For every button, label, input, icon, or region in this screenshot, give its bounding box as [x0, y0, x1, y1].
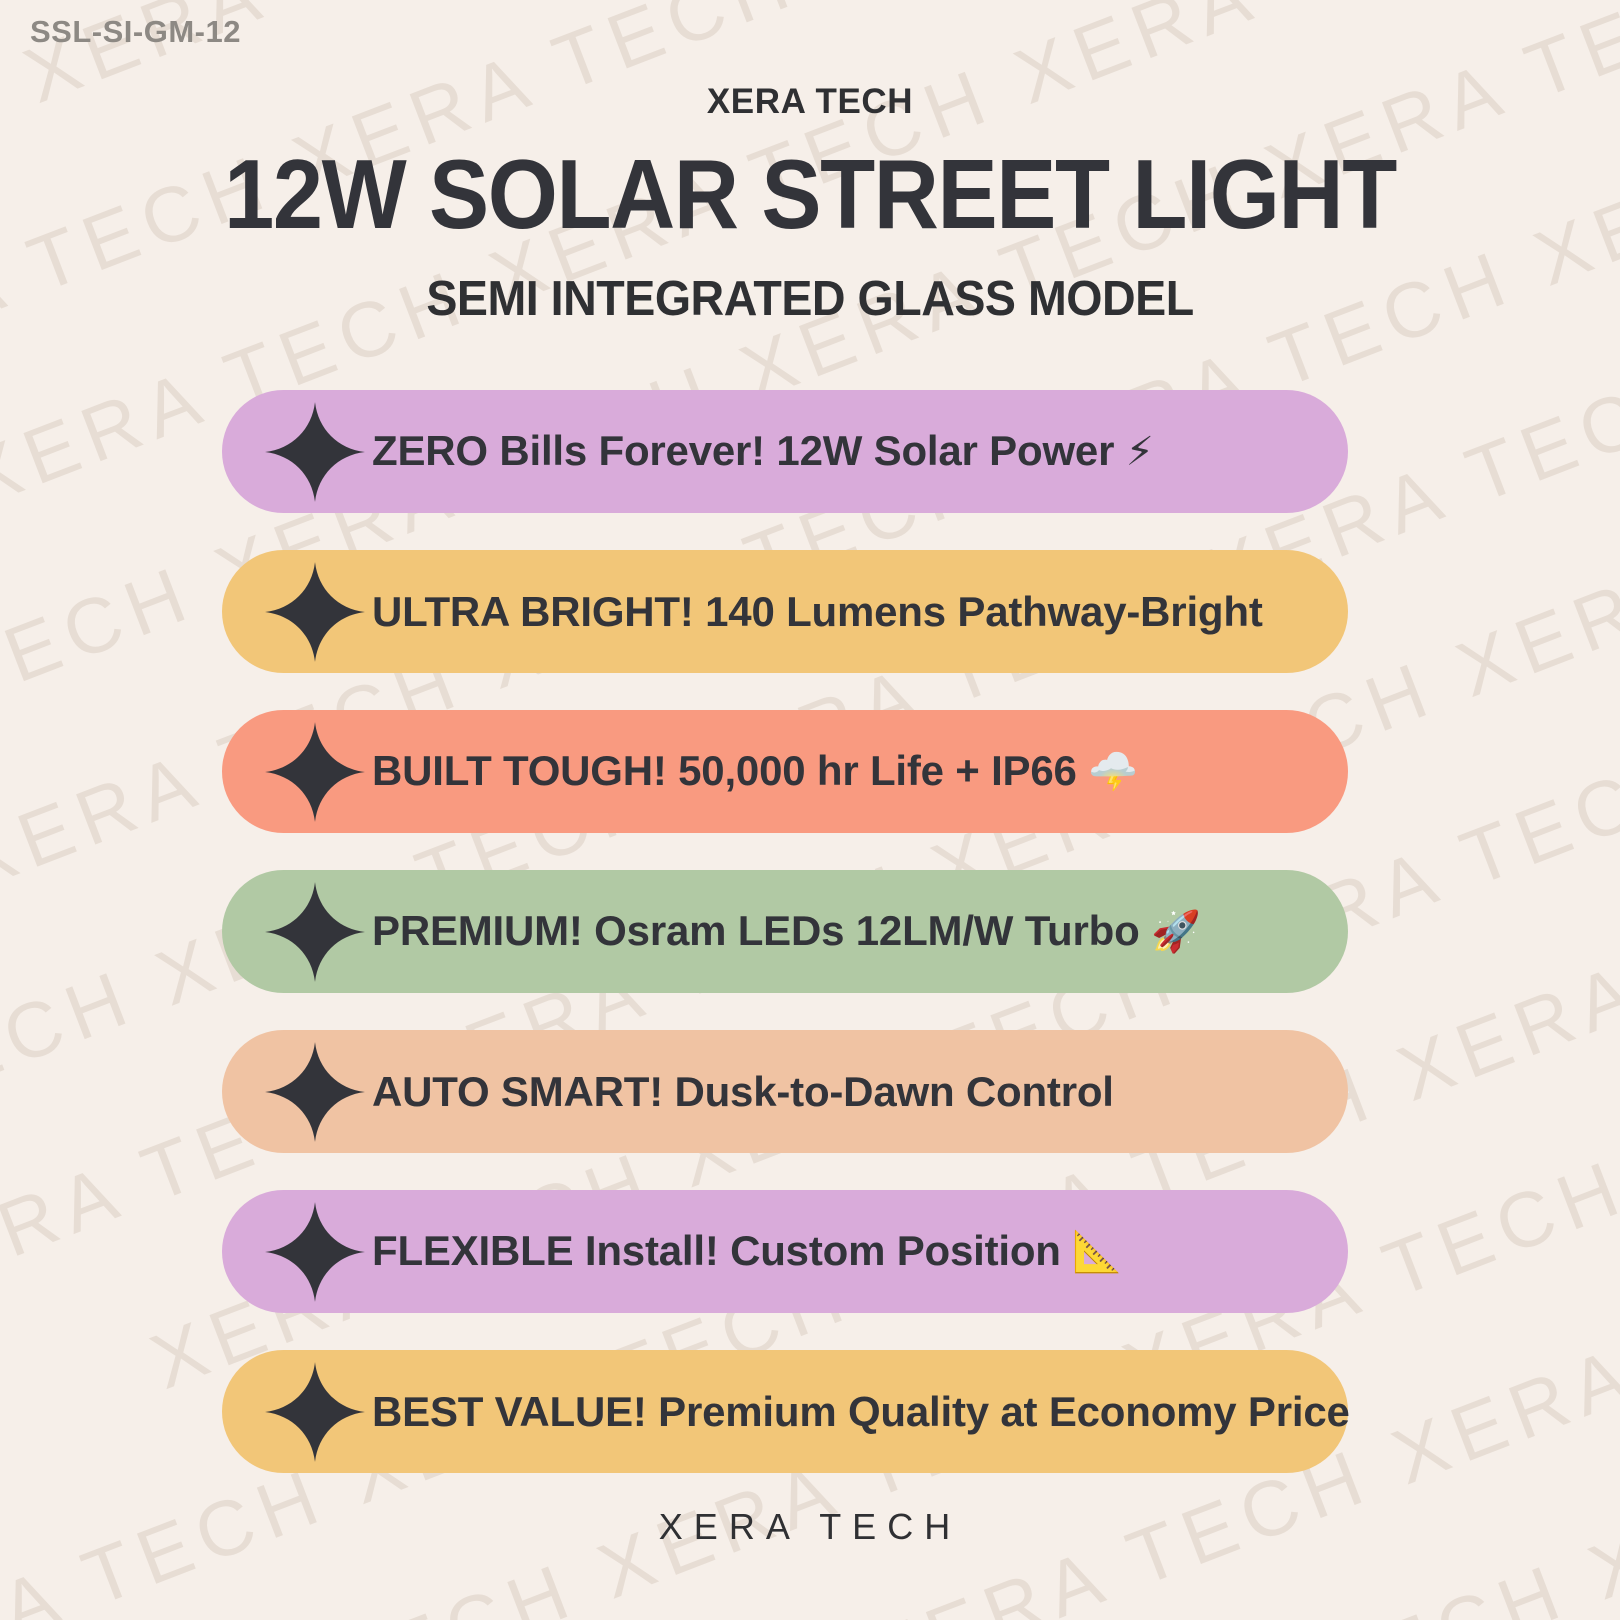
feature-pill-2[interactable]: ULTRA BRIGHT! 140 Lumens Pathway-Bright [222, 550, 1348, 673]
sparkle-star-icon [263, 560, 367, 664]
page-subtitle: SEMI INTEGRATED GLASS MODEL [41, 272, 1580, 326]
feature-label: BEST VALUE! Premium Quality at Economy P… [372, 1388, 1374, 1436]
sku-label: SSL-SI-GM-12 [30, 14, 241, 50]
feature-pill-6[interactable]: FLEXIBLE Install! Custom Position 📐 [222, 1190, 1348, 1313]
feature-label: FLEXIBLE Install! Custom Position 📐 [372, 1227, 1146, 1276]
sparkle-star-icon [263, 720, 367, 824]
header-block: XERA TECH 12W SOLAR STREET LIGHT SEMI IN… [0, 82, 1620, 326]
page-title: 12W SOLAR STREET LIGHT [65, 144, 1555, 244]
feature-label: ULTRA BRIGHT! 140 Lumens Pathway-Bright [372, 588, 1287, 636]
feature-emoji: 🌩️ [1088, 749, 1138, 795]
sparkle-star-icon [263, 1200, 367, 1304]
feature-pill-1[interactable]: ZERO Bills Forever! 12W Solar Power ⚡ [222, 390, 1348, 513]
feature-label: ZERO Bills Forever! 12W Solar Power ⚡ [372, 427, 1178, 476]
feature-emoji: ⚡ [1126, 429, 1154, 475]
sparkle-star-icon [263, 400, 367, 504]
feature-emoji: 🚀 [1151, 909, 1201, 955]
feature-label: AUTO SMART! Dusk-to-Dawn Control [372, 1068, 1138, 1116]
feature-emoji: 📐 [1072, 1229, 1122, 1275]
feature-label: PREMIUM! Osram LEDs 12LM/W Turbo 🚀 [372, 907, 1225, 956]
watermark-row: XERA TECH XERA TECH XERA TECH XERA TECH … [114, 1547, 1620, 1620]
sparkle-star-icon [263, 880, 367, 984]
feature-pill-7[interactable]: BEST VALUE! Premium Quality at Economy P… [222, 1350, 1348, 1473]
sparkle-star-icon [263, 1040, 367, 1144]
feature-pill-5[interactable]: AUTO SMART! Dusk-to-Dawn Control [222, 1030, 1348, 1153]
brand-eyebrow: XERA TECH [0, 82, 1620, 122]
feature-label: BUILT TOUGH! 50,000 hr Life + IP66 🌩️ [372, 747, 1162, 796]
footer-brand: XERA TECH [0, 1506, 1620, 1548]
poster-canvas: XERA TECH XERA TECH XERA TECH XERA TECH … [0, 0, 1620, 1620]
sparkle-star-icon [263, 1360, 367, 1464]
feature-list: ZERO Bills Forever! 12W Solar Power ⚡ULT… [222, 390, 1348, 1473]
feature-pill-4[interactable]: PREMIUM! Osram LEDs 12LM/W Turbo 🚀 [222, 870, 1348, 993]
feature-pill-3[interactable]: BUILT TOUGH! 50,000 hr Life + IP66 🌩️ [222, 710, 1348, 833]
